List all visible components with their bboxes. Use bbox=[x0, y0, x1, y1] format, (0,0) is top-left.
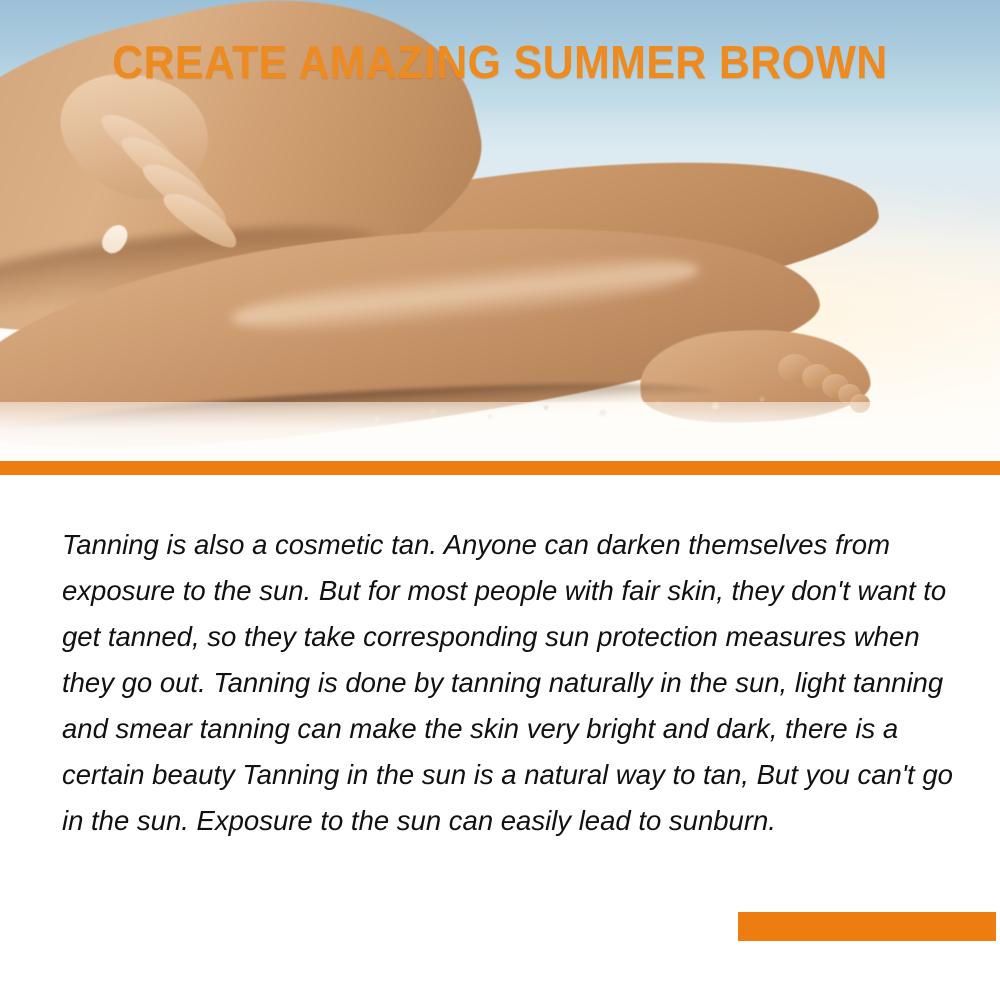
product-description-page: CREATE AMAZING SUMMER BROWN Tanning is a… bbox=[0, 0, 1000, 1000]
fingers-group bbox=[92, 128, 252, 258]
foreground-sand bbox=[0, 402, 1000, 461]
description-paragraph: Tanning is also a cosmetic tan. Anyone c… bbox=[62, 522, 962, 844]
bottom-accent-bar bbox=[738, 912, 996, 941]
page-title: CREATE AMAZING SUMMER BROWN bbox=[35, 38, 965, 86]
hero-banner: CREATE AMAZING SUMMER BROWN bbox=[0, 0, 1000, 461]
fingernail-shape bbox=[97, 220, 132, 257]
orange-divider-bar bbox=[0, 461, 1000, 475]
